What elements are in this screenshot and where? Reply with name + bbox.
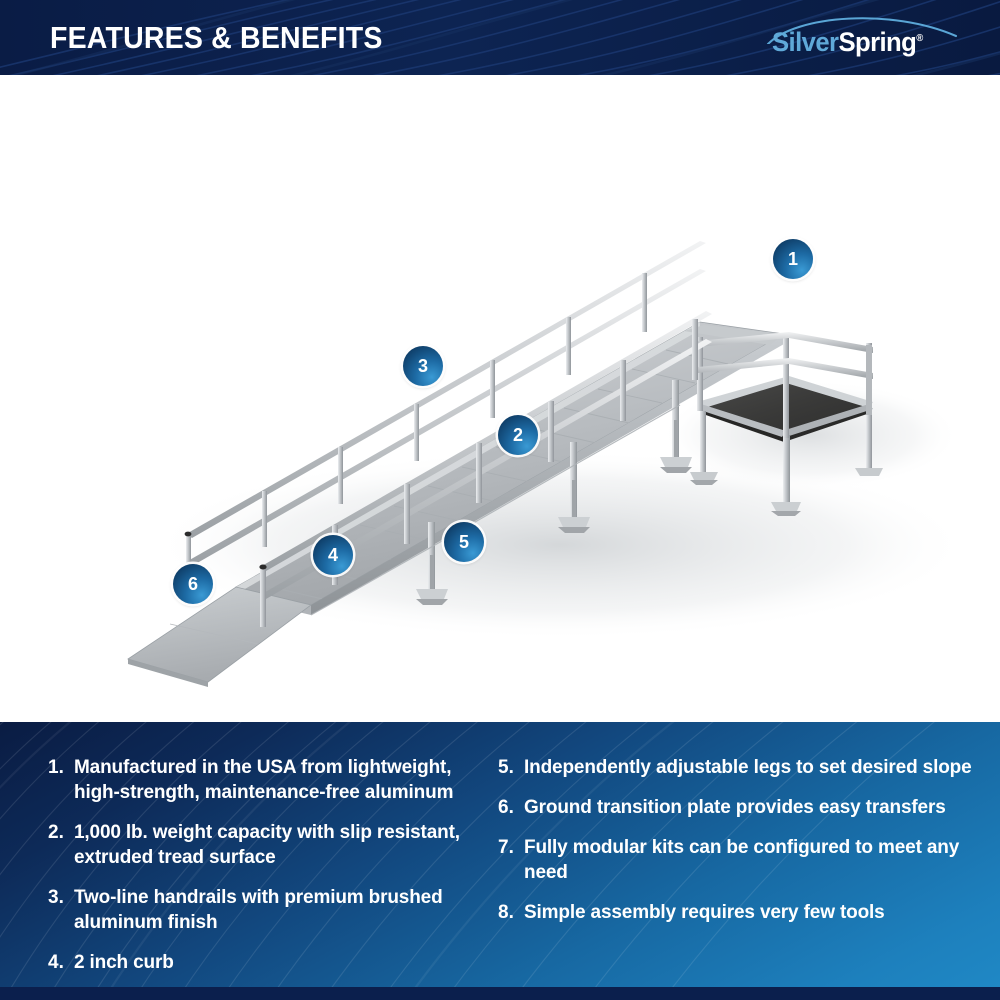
callout-number: 6 xyxy=(188,575,198,593)
callout-number: 1 xyxy=(788,250,798,268)
features-list-panel: 1. Manufactured in the USA from lightwei… xyxy=(0,722,1000,1000)
feature-text: Manufactured in the USA from lightweight… xyxy=(74,755,490,805)
feature-item-1: 1. Manufactured in the USA from lightwei… xyxy=(48,755,490,805)
feature-text: 1,000 lb. weight capacity with slip resi… xyxy=(74,820,490,870)
logo-word-spring: Spring xyxy=(838,27,916,57)
feature-number: 7. xyxy=(498,835,524,860)
features-right-column: 5. Independently adjustable legs to set … xyxy=(490,722,1000,1000)
feature-text: Ground transition plate provides easy tr… xyxy=(524,795,1000,820)
feature-number: 3. xyxy=(48,885,74,910)
product-illustration: 1 2 3 4 5 6 xyxy=(0,75,1000,722)
callout-badge-3[interactable]: 3 xyxy=(403,346,443,386)
features-benefits-page: FEATURES & BENEFITS SilverSpring® xyxy=(0,0,1000,1000)
feature-item-5: 5. Independently adjustable legs to set … xyxy=(498,755,1000,780)
features-columns: 1. Manufactured in the USA from lightwei… xyxy=(0,722,1000,1000)
feature-text: Independently adjustable legs to set des… xyxy=(524,755,1000,780)
feature-item-6: 6. Ground transition plate provides easy… xyxy=(498,795,1000,820)
callout-number: 3 xyxy=(418,357,428,375)
callout-number: 5 xyxy=(459,533,469,551)
feature-number: 8. xyxy=(498,900,524,925)
feature-text: 2 inch curb xyxy=(74,950,490,975)
callout-number: 2 xyxy=(513,426,523,444)
feature-number: 2. xyxy=(48,820,74,845)
feature-number: 4. xyxy=(48,950,74,975)
callout-badge-2[interactable]: 2 xyxy=(498,415,538,455)
silverspring-logo[interactable]: SilverSpring® xyxy=(760,14,960,62)
feature-text: Fully modular kits can be configured to … xyxy=(524,835,1000,885)
feature-item-3: 3. Two-line handrails with premium brush… xyxy=(48,885,490,935)
feature-item-2: 2. 1,000 lb. weight capacity with slip r… xyxy=(48,820,490,870)
feature-number: 5. xyxy=(498,755,524,780)
page-title: FEATURES & BENEFITS xyxy=(50,21,383,55)
features-left-column: 1. Manufactured in the USA from lightwei… xyxy=(0,722,490,1000)
callout-number: 4 xyxy=(328,546,338,564)
feature-number: 6. xyxy=(498,795,524,820)
feature-text: Two-line handrails with premium brushed … xyxy=(74,885,490,935)
logo-registered-mark: ® xyxy=(916,33,922,44)
callout-badge-5[interactable]: 5 xyxy=(444,522,484,562)
logo-word-silver: Silver xyxy=(772,27,838,57)
logo-wordmark: SilverSpring® xyxy=(772,27,923,58)
page-header: FEATURES & BENEFITS SilverSpring® xyxy=(0,0,1000,75)
ramp-illustration-svg xyxy=(0,75,1000,722)
feature-item-4: 4. 2 inch curb xyxy=(48,950,490,975)
feature-text: Simple assembly requires very few tools xyxy=(524,900,1000,925)
callout-badge-4[interactable]: 4 xyxy=(313,535,353,575)
panel-bottom-strip xyxy=(0,987,1000,1000)
feature-number: 1. xyxy=(48,755,74,780)
callout-badge-6[interactable]: 6 xyxy=(173,564,213,604)
callout-badge-1[interactable]: 1 xyxy=(773,239,813,279)
feature-item-7: 7. Fully modular kits can be configured … xyxy=(498,835,1000,885)
feature-item-8: 8. Simple assembly requires very few too… xyxy=(498,900,1000,925)
